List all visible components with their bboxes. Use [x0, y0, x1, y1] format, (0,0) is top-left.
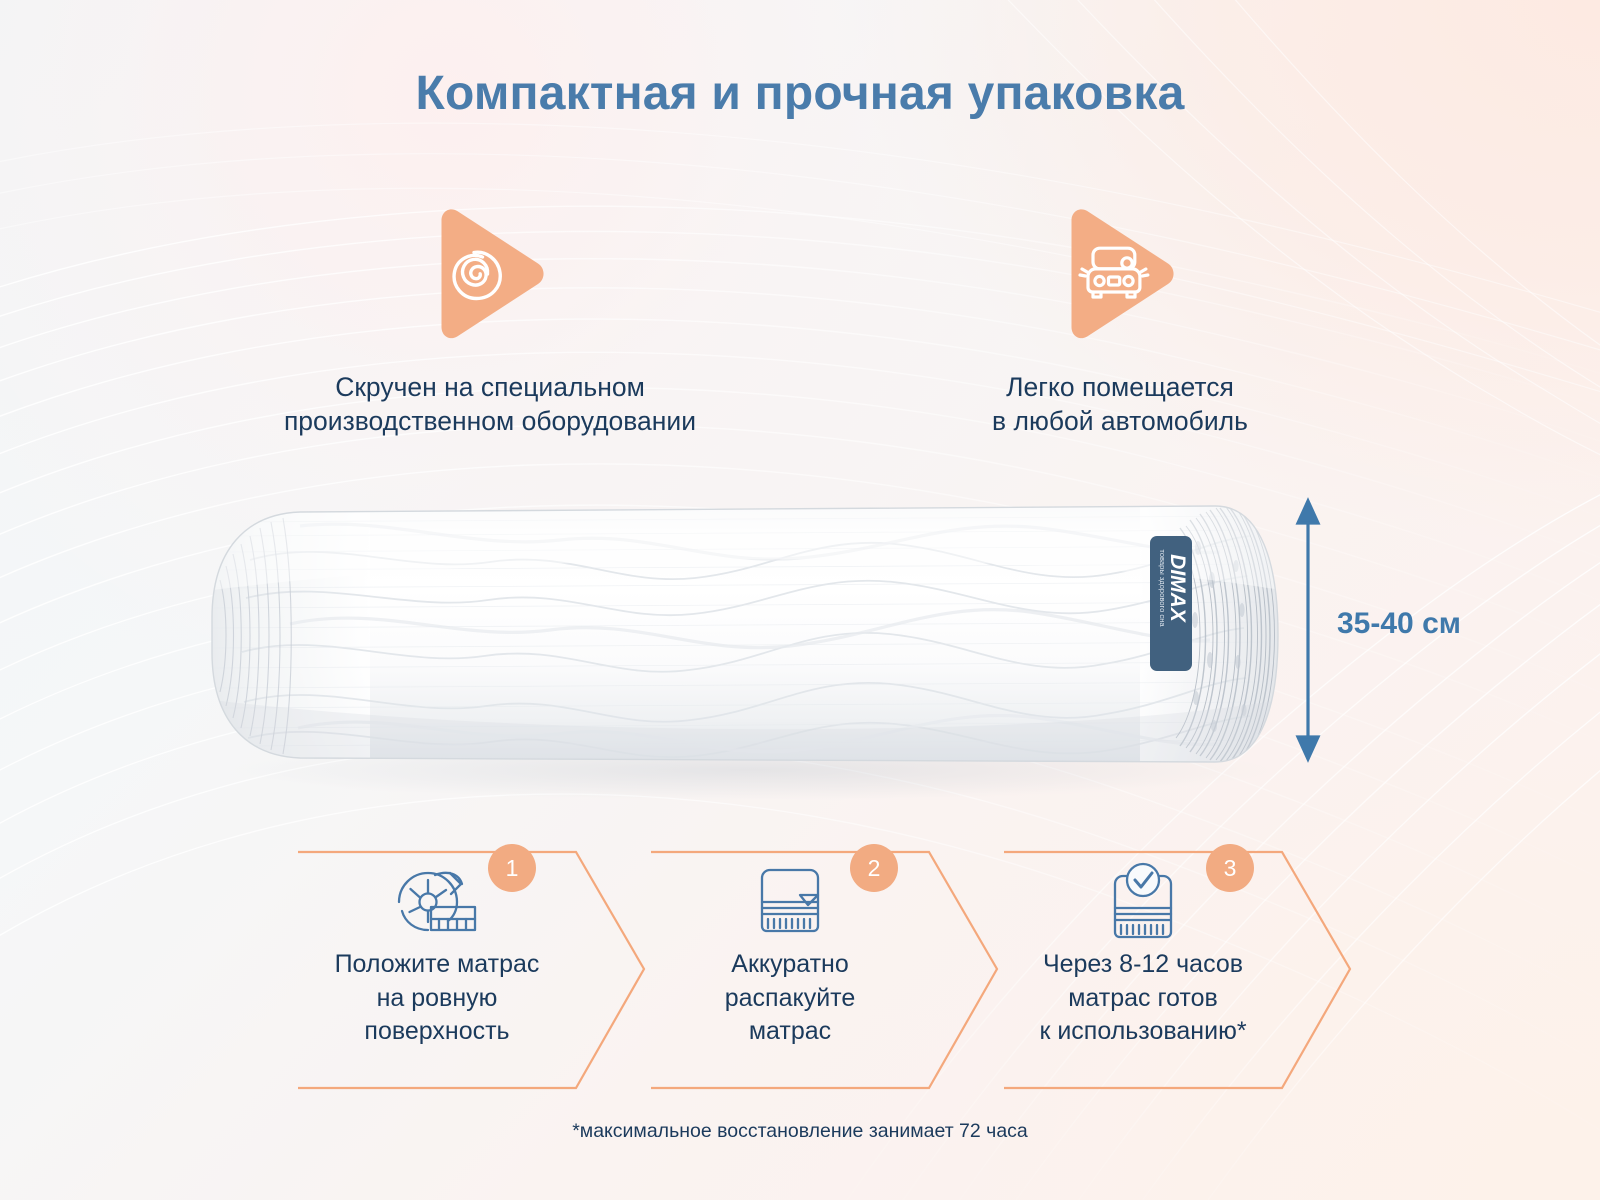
dimax-brand-text: DIMAX — [1166, 554, 1189, 624]
step-label: Аккуратно распакуйте матрас — [645, 948, 935, 1049]
rolled-mattress: DIMAX товары здорового сна — [150, 470, 1330, 800]
step-icon-wrap — [292, 862, 582, 945]
car-front-icon — [1044, 200, 1196, 352]
dimension-indicator: 35-40 см — [1285, 495, 1545, 765]
step-card-3: Через 8-12 часов матрас готов к использо… — [998, 838, 1358, 1100]
feature-badge — [130, 196, 850, 356]
footnote-text: *максимальное восстановление занимает 72… — [0, 1120, 1600, 1143]
feature-block-car: Легко помещается в любой автомобиль — [790, 196, 1450, 439]
step-number-badge: 3 — [1206, 844, 1254, 892]
feature-badge — [790, 196, 1450, 356]
unrolling-mattress-icon — [391, 862, 483, 940]
spiral-roll-icon — [414, 200, 566, 352]
dimax-tagline-text: товары здорового сна — [1158, 549, 1167, 627]
dimax-tag: DIMAX товары здорового сна — [1150, 536, 1192, 671]
steps-row: Положите матрас на ровную поверхность 1 — [0, 838, 1600, 1100]
step-number-badge: 1 — [488, 844, 536, 892]
step-label: Положите матрас на ровную поверхность — [292, 948, 582, 1049]
page-title: Компактная и прочная упаковка — [0, 66, 1600, 121]
dimension-label: 35-40 см — [1337, 607, 1461, 641]
feature-block-spiral: Скручен на специальном производственном … — [130, 196, 850, 439]
step-card-2: Аккуратно распакуйте матрас 2 — [645, 838, 1005, 1100]
step-label: Через 8-12 часов матрас готов к использо… — [998, 948, 1288, 1049]
unwrap-mattress-icon — [750, 862, 830, 940]
step-card-1: Положите матрас на ровную поверхность 1 — [292, 838, 652, 1100]
feature-caption: Скручен на специальном производственном … — [130, 370, 850, 439]
mattress-check-icon — [1103, 862, 1183, 944]
feature-caption: Легко помещается в любой автомобиль — [790, 370, 1450, 439]
step-number-badge: 2 — [850, 844, 898, 892]
